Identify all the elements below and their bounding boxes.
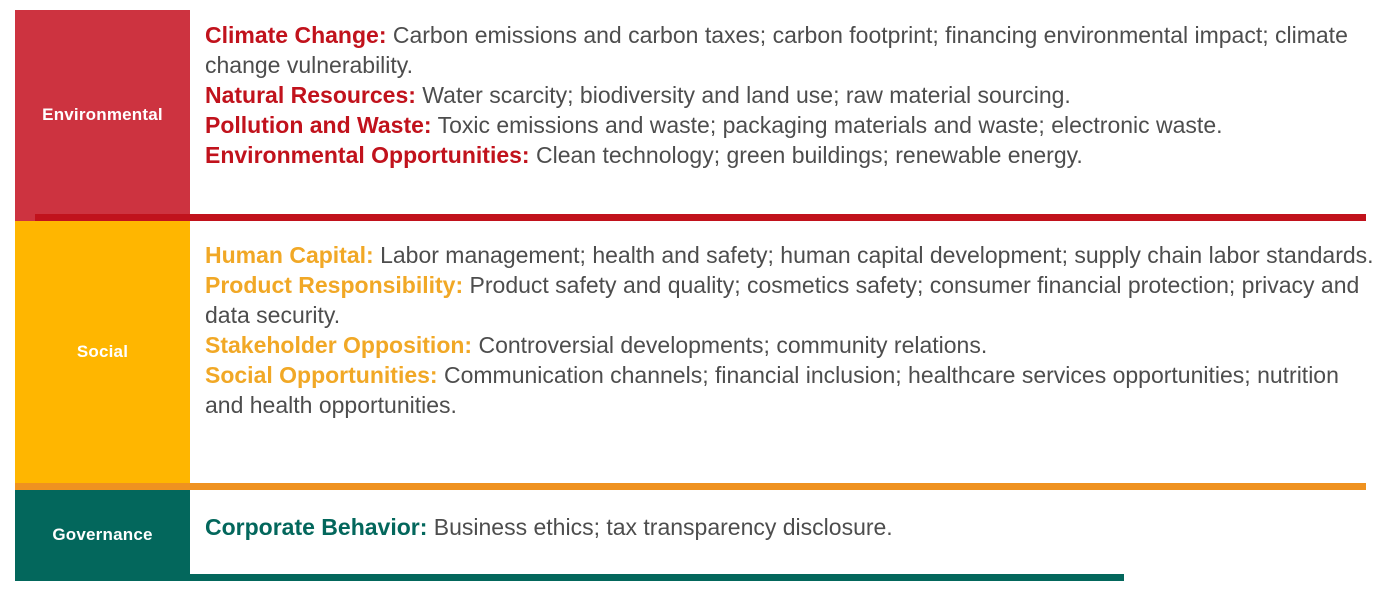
divider-environmental bbox=[35, 214, 1366, 221]
topic-climate-change: Climate Change: Carbon emissions and car… bbox=[205, 20, 1375, 80]
pillar-content-governance: Corporate Behavior: Business ethics; tax… bbox=[205, 512, 1375, 542]
topic-desc-environmental-opportunities: Clean technology; green buildings; renew… bbox=[530, 142, 1083, 168]
topic-term-corporate-behavior: Corporate Behavior: bbox=[205, 514, 427, 540]
topic-pollution-and-waste: Pollution and Waste: Toxic emissions and… bbox=[205, 110, 1375, 140]
topic-social-opportunities: Social Opportunities: Communication chan… bbox=[205, 360, 1375, 420]
topic-desc-corporate-behavior: Business ethics; tax transparency disclo… bbox=[427, 514, 892, 540]
topic-term-natural-resources: Natural Resources: bbox=[205, 82, 416, 108]
topic-natural-resources: Natural Resources: Water scarcity; biodi… bbox=[205, 80, 1375, 110]
topic-stakeholder-opposition: Stakeholder Opposition: Controversial de… bbox=[205, 330, 1375, 360]
pillar-block-environmental: Environmental bbox=[15, 10, 190, 221]
pillar-content-social: Human Capital: Labor management; health … bbox=[205, 240, 1375, 420]
pillar-label-social: Social bbox=[77, 343, 128, 362]
topic-term-pollution-and-waste: Pollution and Waste: bbox=[205, 112, 432, 138]
pillar-block-social: Social bbox=[15, 221, 190, 483]
topic-term-environmental-opportunities: Environmental Opportunities: bbox=[205, 142, 530, 168]
divider-governance bbox=[15, 574, 1124, 581]
esg-pillars-table: Environmental Climate Change: Carbon emi… bbox=[0, 0, 1391, 591]
topic-desc-stakeholder-opposition: Controversial developments; community re… bbox=[472, 332, 987, 358]
pillar-content-environmental: Climate Change: Carbon emissions and car… bbox=[205, 20, 1375, 170]
topic-corporate-behavior: Corporate Behavior: Business ethics; tax… bbox=[205, 512, 1375, 542]
pillar-block-governance: Governance bbox=[15, 490, 190, 581]
topic-term-climate-change: Climate Change: bbox=[205, 22, 386, 48]
topic-term-human-capital: Human Capital: bbox=[205, 242, 374, 268]
pillar-label-governance: Governance bbox=[52, 526, 152, 545]
topic-desc-natural-resources: Water scarcity; biodiversity and land us… bbox=[416, 82, 1071, 108]
topic-desc-human-capital: Labor management; health and safety; hum… bbox=[374, 242, 1374, 268]
topic-term-stakeholder-opposition: Stakeholder Opposition: bbox=[205, 332, 472, 358]
topic-product-responsibility: Product Responsibility: Product safety a… bbox=[205, 270, 1375, 330]
topic-human-capital: Human Capital: Labor management; health … bbox=[205, 240, 1375, 270]
topic-desc-pollution-and-waste: Toxic emissions and waste; packaging mat… bbox=[432, 112, 1223, 138]
topic-term-social-opportunities: Social Opportunities: bbox=[205, 362, 438, 388]
divider-social bbox=[15, 483, 1366, 490]
topic-environmental-opportunities: Environmental Opportunities: Clean techn… bbox=[205, 140, 1375, 170]
topic-term-product-responsibility: Product Responsibility: bbox=[205, 272, 463, 298]
pillar-label-environmental: Environmental bbox=[42, 106, 163, 125]
